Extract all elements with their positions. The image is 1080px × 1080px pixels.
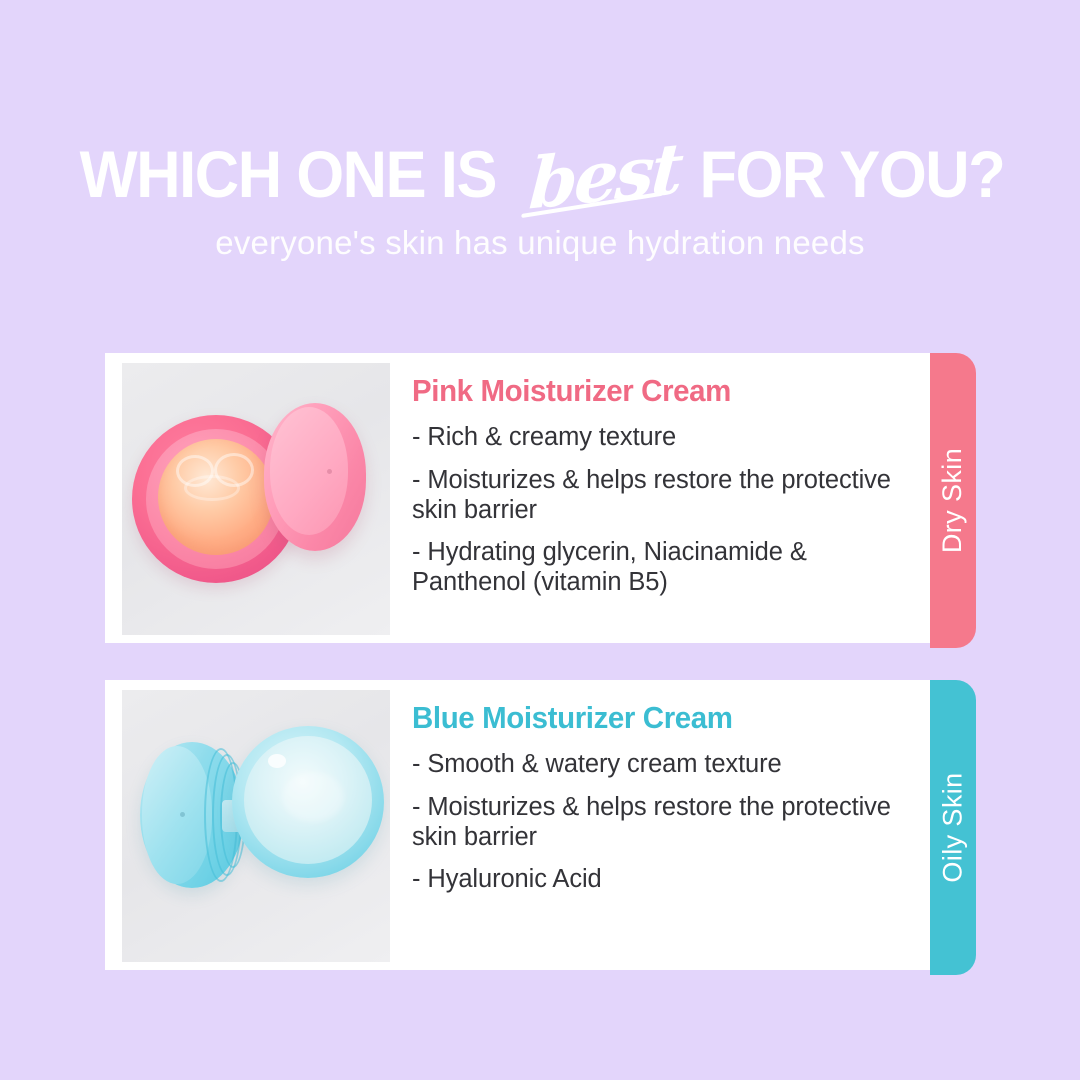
product-photo-pink	[122, 363, 390, 635]
product-feature-item: - Hyaluronic Acid	[412, 865, 902, 895]
page-title: WHICH ONE ISbestFOR YOU?	[0, 138, 1080, 210]
product-details-pink: Pink Moisturizer Cream - Rich & creamy t…	[390, 353, 930, 611]
page-subtitle: everyone's skin has unique hydration nee…	[0, 224, 1080, 262]
product-feature-item: - Hydrating glycerin, Niacinamide & Pant…	[412, 538, 902, 598]
pink-jar-lid-dot	[327, 469, 332, 474]
product-feature-item: - Moisturizes & helps restore the protec…	[412, 466, 902, 526]
skin-type-tab-oily[interactable]: Oily Skin	[930, 680, 976, 975]
blue-jar-lid-dot	[180, 812, 185, 817]
page-header: WHICH ONE ISbestFOR YOU? everyone's skin…	[0, 0, 1080, 262]
product-details-blue: Blue Moisturizer Cream - Smooth & watery…	[390, 680, 930, 908]
blue-jar-lid-face	[142, 746, 212, 884]
product-card-blue[interactable]: Blue Moisturizer Cream - Smooth & watery…	[105, 680, 930, 970]
product-card-pink[interactable]: Pink Moisturizer Cream - Rich & creamy t…	[105, 353, 930, 643]
product-title-blue: Blue Moisturizer Cream	[412, 700, 878, 736]
headline-script-word: best	[527, 132, 683, 222]
blue-jar-bubble	[268, 754, 286, 768]
product-feature-item: - Moisturizes & helps restore the protec…	[412, 793, 902, 853]
headline-part-two: FOR YOU?	[700, 138, 1005, 210]
blue-jar-sheen	[282, 772, 344, 822]
product-feature-item: - Smooth & watery cream texture	[412, 750, 902, 780]
headline-part-one: WHICH ONE IS	[80, 138, 496, 210]
product-title-pink: Pink Moisturizer Cream	[412, 373, 878, 409]
pink-jar-lid-face	[270, 407, 348, 535]
product-feature-item: - Rich & creamy texture	[412, 423, 902, 453]
pink-cream-swirl-3	[184, 475, 240, 501]
skin-type-tab-label: Oily Skin	[938, 772, 969, 882]
skin-type-tab-label: Dry Skin	[938, 448, 969, 553]
skin-type-tab-dry[interactable]: Dry Skin	[930, 353, 976, 648]
product-photo-blue	[122, 690, 390, 962]
